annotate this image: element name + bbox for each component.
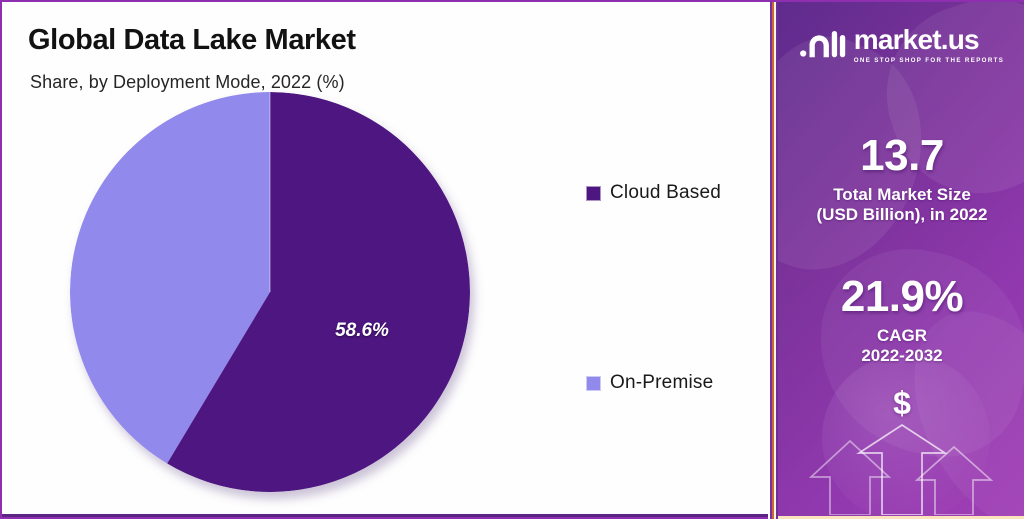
growth-arrows-graphic: $ [778, 385, 1024, 515]
stat-caption-line-2: 2022-2032 [778, 346, 1024, 366]
brand-logo[interactable]: market.us ONE STOP SHOP FOR THE REPORTS [778, 26, 1024, 64]
market-us-logo-icon [800, 28, 846, 62]
panel-divider [768, 2, 778, 519]
chart-bottom-border [2, 514, 768, 517]
chart-area: Global Data Lake Market Share, by Deploy… [2, 2, 768, 517]
infographic-root: Global Data Lake Market Share, by Deploy… [0, 0, 1024, 519]
legend-label-on-premise: On-Premise [610, 372, 713, 394]
legend-swatch-cloud-based [586, 186, 601, 201]
up-arrow-icon [859, 425, 945, 515]
stat-caption: Total Market Size (USD Billion), in 2022 [778, 185, 1024, 226]
stat-value: 21.9% [778, 274, 1024, 321]
stats-panel: market.us ONE STOP SHOP FOR THE REPORTS … [778, 2, 1024, 519]
legend-swatch-on-premise [586, 376, 601, 391]
stat-value: 13.7 [778, 133, 1024, 180]
pie-chart: 58.6% [70, 92, 474, 496]
stat-total-market-size: 13.7 Total Market Size (USD Billion), in… [778, 133, 1024, 225]
legend-label-cloud-based: Cloud Based [610, 182, 721, 204]
page-title: Global Data Lake Market [28, 24, 356, 57]
dollar-sign-icon: $ [778, 385, 1024, 422]
pie-slices [70, 92, 470, 492]
stat-cagr: 21.9% CAGR 2022-2032 [778, 274, 1024, 366]
stat-caption-line-1: CAGR [778, 326, 1024, 346]
stat-caption-line-1: Total Market Size [778, 185, 1024, 205]
logo-text-block: market.us ONE STOP SHOP FOR THE REPORTS [854, 26, 1005, 64]
stat-caption-line-2: (USD Billion), in 2022 [778, 205, 1024, 225]
legend-item-on-premise[interactable]: On-Premise [586, 372, 713, 394]
logo-wordmark: market.us [854, 26, 979, 54]
logo-tagline: ONE STOP SHOP FOR THE REPORTS [854, 57, 1005, 64]
pie-svg [70, 92, 470, 492]
up-arrow-icon [917, 447, 991, 515]
page-subtitle: Share, by Deployment Mode, 2022 (%) [30, 72, 345, 93]
legend-item-cloud-based[interactable]: Cloud Based [586, 182, 721, 204]
up-arrow-icon [811, 441, 889, 515]
stat-caption: CAGR 2022-2032 [778, 326, 1024, 367]
